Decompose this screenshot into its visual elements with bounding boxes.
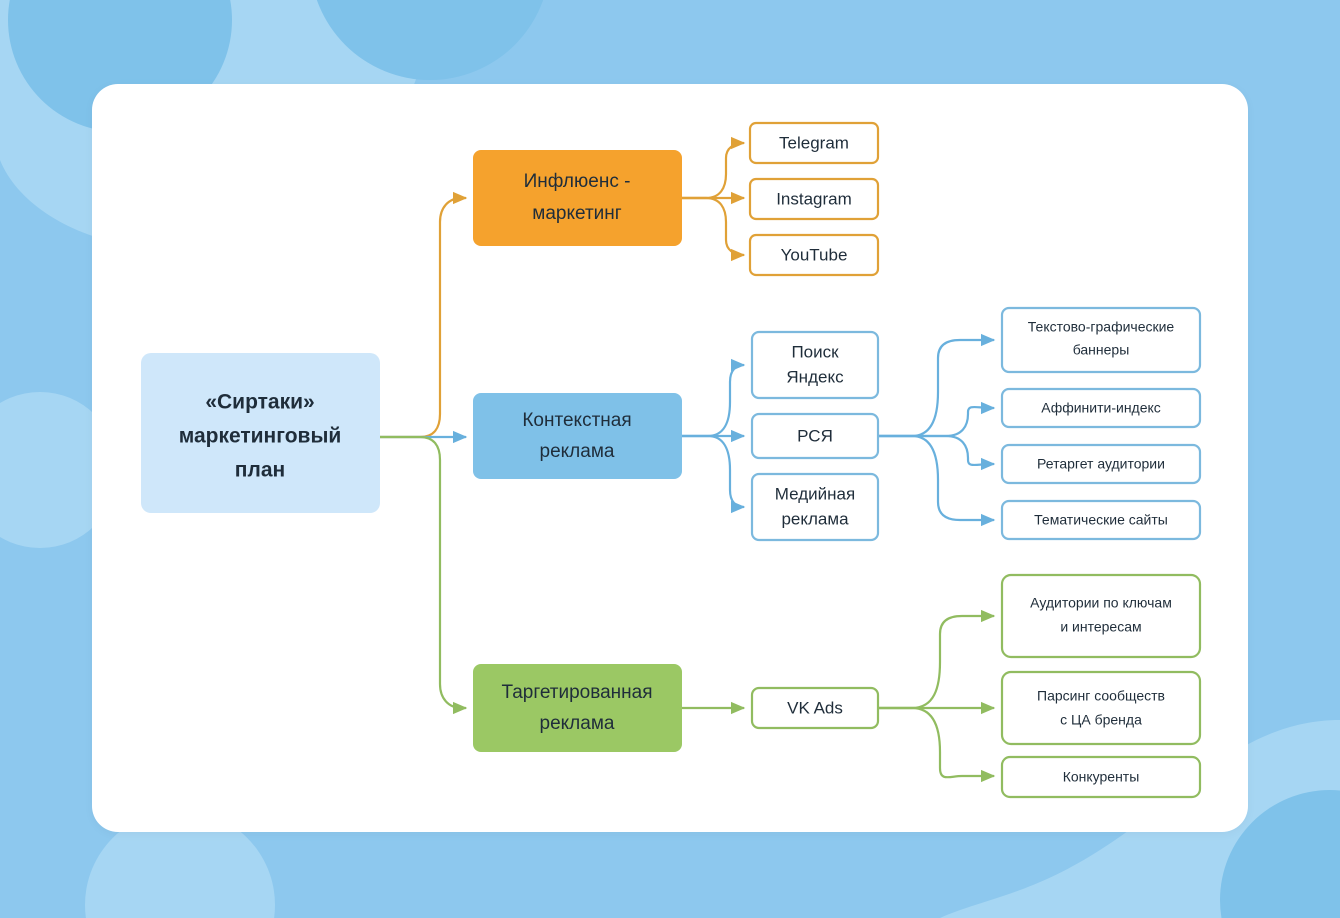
connector-influence-to-telegram bbox=[682, 143, 744, 198]
node-affinity-label: Аффинити-индекс bbox=[1041, 400, 1161, 416]
node-audiences-box bbox=[1002, 575, 1200, 657]
node-influence-box bbox=[473, 150, 682, 246]
node-root-line-1: «Сиртаки» bbox=[205, 391, 314, 414]
node-context-box bbox=[473, 393, 682, 479]
node-poisk-yandex[interactable]: Поиск Яндекс bbox=[752, 332, 878, 398]
node-targeted-box bbox=[473, 664, 682, 752]
node-branch-influence[interactable]: Инфлюенс - маркетинг bbox=[473, 150, 682, 246]
node-leaf-competitors[interactable]: Конкуренты bbox=[1002, 757, 1200, 797]
node-vk-ads-label: VK Ads bbox=[787, 698, 843, 717]
node-audiences-line-1: Аудитории по ключам bbox=[1030, 595, 1172, 611]
node-banners-line-1: Текстово-графические bbox=[1028, 319, 1175, 335]
node-branch-targeted[interactable]: Таргетированная реклама bbox=[473, 664, 682, 752]
node-leaf-affinity-index[interactable]: Аффинити-индекс bbox=[1002, 389, 1200, 427]
node-thematic-label: Тематические сайты bbox=[1034, 512, 1168, 528]
node-parsing-line-2: с ЦА бренда bbox=[1060, 712, 1142, 728]
node-root-line-2: маркетинговый bbox=[179, 425, 342, 448]
connector-context-to-media bbox=[682, 436, 744, 507]
node-influence-line-1: Инфлюенс - bbox=[524, 171, 631, 192]
connector-group-rsya bbox=[878, 340, 994, 520]
connector-root-to-targeted bbox=[380, 437, 466, 708]
node-leaf-instagram[interactable]: Instagram bbox=[750, 179, 878, 219]
node-competitors-label: Конкуренты bbox=[1063, 769, 1140, 785]
node-context-line-1: Контекстная bbox=[522, 410, 631, 431]
node-branch-context[interactable]: Контекстная реклама bbox=[473, 393, 682, 479]
node-poisk-yandex-line-1: Поиск bbox=[791, 342, 839, 361]
connector-influence-to-youtube bbox=[682, 198, 744, 255]
connector-vkads-to-audiences bbox=[878, 616, 994, 708]
node-youtube-label: YouTube bbox=[781, 245, 848, 264]
node-parsing-line-1: Парсинг сообществ bbox=[1037, 688, 1165, 704]
node-targeted-line-1: Таргетированная bbox=[501, 682, 652, 703]
node-targeted-line-2: реклама bbox=[540, 713, 615, 734]
node-retarget-label: Ретаргет аудитории bbox=[1037, 456, 1165, 472]
connector-group-influence bbox=[682, 143, 744, 255]
node-rsya[interactable]: РСЯ bbox=[752, 414, 878, 458]
connector-group-vkads bbox=[878, 616, 994, 777]
node-leaf-parsing-communities[interactable]: Парсинг сообществ с ЦА бренда bbox=[1002, 672, 1200, 744]
node-instagram-label: Instagram bbox=[776, 189, 852, 208]
node-media-ads[interactable]: Медийная реклама bbox=[752, 474, 878, 540]
connector-context-to-poisk bbox=[682, 365, 744, 436]
node-leaf-retarget-audience[interactable]: Ретаргет аудитории bbox=[1002, 445, 1200, 483]
node-audiences-line-2: и интересам bbox=[1060, 619, 1141, 635]
node-context-line-2: реклама bbox=[540, 441, 615, 462]
node-vk-ads[interactable]: VK Ads bbox=[752, 688, 878, 728]
node-media-ads-line-1: Медийная bbox=[775, 484, 855, 503]
node-banners-box bbox=[1002, 308, 1200, 372]
connector-group-context bbox=[682, 365, 744, 507]
node-leaf-text-graphic-banners[interactable]: Текстово-графические баннеры bbox=[1002, 308, 1200, 372]
node-leaf-youtube[interactable]: YouTube bbox=[750, 235, 878, 275]
node-root[interactable]: «Сиртаки» маркетинговый план bbox=[141, 353, 380, 513]
node-leaf-telegram[interactable]: Telegram bbox=[750, 123, 878, 163]
connector-rsya-to-banners bbox=[878, 340, 994, 436]
node-banners-line-2: баннеры bbox=[1073, 342, 1130, 358]
connector-group-root bbox=[380, 198, 466, 708]
connector-root-to-influence bbox=[380, 198, 466, 437]
node-influence-line-2: маркетинг bbox=[532, 203, 621, 224]
node-media-ads-line-2: реклама bbox=[781, 509, 849, 528]
node-leaf-audiences-keys-interests[interactable]: Аудитории по ключам и интересам bbox=[1002, 575, 1200, 657]
node-parsing-box bbox=[1002, 672, 1200, 744]
connector-vkads-to-competitors bbox=[878, 708, 994, 777]
marketing-plan-diagram: «Сиртаки» маркетинговый план Инфлюенс - … bbox=[0, 0, 1340, 918]
connector-rsya-to-thematic bbox=[878, 436, 994, 520]
node-poisk-yandex-line-2: Яндекс bbox=[786, 367, 844, 386]
node-root-line-3: план bbox=[235, 459, 285, 482]
node-rsya-label: РСЯ bbox=[797, 426, 833, 445]
node-leaf-thematic-sites[interactable]: Тематические сайты bbox=[1002, 501, 1200, 539]
node-telegram-label: Telegram bbox=[779, 133, 849, 152]
